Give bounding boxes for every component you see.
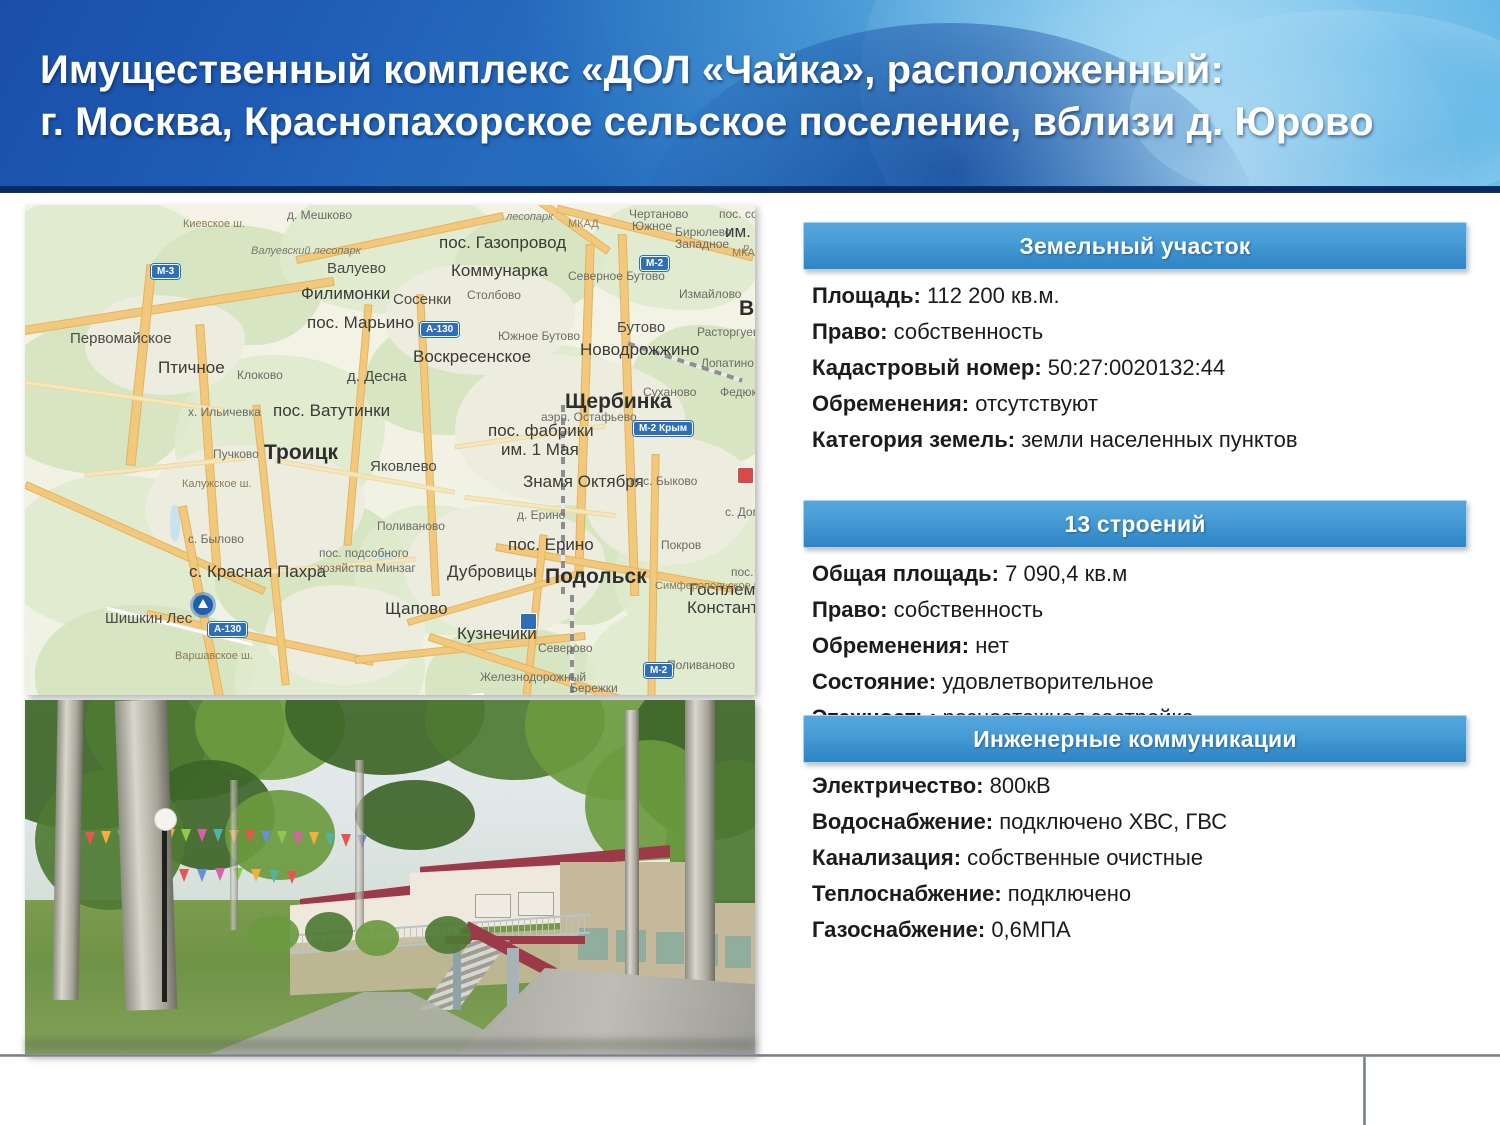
map-label: Первомайское <box>70 330 172 347</box>
panel-row-value: подключено ХВС, ГВС <box>993 809 1227 834</box>
panel-row-value: собственность <box>888 319 1044 344</box>
map-label: с. Красная Пахра <box>189 562 326 582</box>
panel-rows-utilities: Электричество: 800кВВодоснабжение: подкл… <box>812 768 1492 948</box>
map-label: пос. Ерино <box>508 535 594 555</box>
map-label: Расторгуево <box>697 325 755 339</box>
panel-header-utilities: Инженерные коммуникации <box>803 715 1467 763</box>
panel-row-label: Водоснабжение: <box>812 809 993 834</box>
map-label: Южное Бутово <box>498 329 580 343</box>
map-road-shield: М-2 <box>644 663 673 678</box>
map-label: пос. Ватутинки <box>273 401 390 421</box>
panel-row-value: 112 200 кв.м. <box>921 283 1060 308</box>
panel-row-value: собственные очистные <box>961 845 1203 870</box>
map-label: Северово <box>538 641 593 655</box>
map-image[interactable]: д. МешковоВалуевский лесопаркВалуевоФили… <box>25 205 755 695</box>
map-label: Суханово <box>643 385 696 399</box>
footer-horizontal-rule <box>0 1054 1500 1057</box>
map-label: Вид <box>739 297 755 321</box>
panel-row: Водоснабжение: подключено ХВС, ГВС <box>812 804 1492 840</box>
map-label: пос. <box>731 565 754 579</box>
location-marker[interactable] <box>193 595 213 615</box>
panel-row: Общая площадь: 7 090,4 кв.м <box>812 556 1492 592</box>
panel-row-label: Обременения: <box>812 391 969 416</box>
map-label: Поливаново <box>377 519 445 533</box>
map-label: Филимонки <box>301 284 390 304</box>
map-label: х. Ильичевка <box>188 405 261 419</box>
panel-row-label: Право: <box>812 319 888 344</box>
panel-row: Обременения: нет <box>812 628 1492 664</box>
map-label: д. Десна <box>347 368 407 385</box>
map-label: Покров <box>661 538 701 552</box>
panel-rows-land-plot: Площадь: 112 200 кв.м.Право: собственнос… <box>812 278 1492 458</box>
panel-row-label: Право: <box>812 597 888 622</box>
map-label: Коммунарка <box>451 261 548 281</box>
slide-header: Имущественный комплекс «ДОЛ «Чайка», рас… <box>0 0 1500 193</box>
panel-row-value: земли населенных пунктов <box>1015 427 1297 452</box>
map-label: Калужское ш. <box>182 478 252 490</box>
page-title: Имущественный комплекс «ДОЛ «Чайка», рас… <box>40 44 1460 148</box>
map-canvas: д. МешковоВалуевский лесопаркВалуевоФили… <box>25 205 755 695</box>
map-label: Валуево <box>327 260 386 277</box>
map-label: Лопатино <box>701 356 754 370</box>
panel-row-label: Газоснабжение: <box>812 917 985 942</box>
map-label: Южное <box>632 219 672 233</box>
map-label: Щапово <box>385 599 448 619</box>
map-label: Варшавское ш. <box>175 650 253 662</box>
map-label: Бутово <box>617 319 665 336</box>
map-label: Троицк <box>264 441 338 465</box>
panel-row: Теплоснабжение: подключено <box>812 876 1492 912</box>
panel-row-value: 800кВ <box>984 773 1051 798</box>
map-label: Шишкин Лес <box>105 610 192 627</box>
panel-row: Состояние: удовлетворительное <box>812 664 1492 700</box>
map-label: Пучково <box>213 447 259 461</box>
panel-row-label: Кадастровый номер: <box>812 355 1042 380</box>
map-road-shield: А-130 <box>420 322 459 337</box>
panel-row-value: собственность <box>888 597 1044 622</box>
map-label: Знамя Октября <box>523 472 644 492</box>
panel-title: Земельный участок <box>1019 233 1250 260</box>
panel-header-buildings: 13 строений <box>803 500 1467 548</box>
panel-row-value: 0,6МПА <box>985 917 1071 942</box>
panel-row-label: Общая площадь: <box>812 561 999 586</box>
panel-row: Электричество: 800кВ <box>812 768 1492 804</box>
map-label: Дубровицы <box>447 562 537 582</box>
panel-row-value: отсутствуют <box>969 391 1098 416</box>
panel-row-value: подключено <box>1002 881 1131 906</box>
map-label: д. Ерино <box>517 508 565 522</box>
panel-row: Газоснабжение: 0,6МПА <box>812 912 1492 948</box>
header-underline <box>0 186 1500 193</box>
map-label: Новодрожжино <box>580 340 699 360</box>
map-label: Поливаново <box>667 658 735 672</box>
map-label: пос. подсобного <box>319 546 409 560</box>
map-label: с. Домоде <box>725 505 755 519</box>
map-label: Северное Бутово <box>568 269 665 283</box>
panel-title: 13 строений <box>1064 511 1205 538</box>
panel-row-label: Электричество: <box>812 773 984 798</box>
map-label: Яковлево <box>370 458 437 475</box>
panel-row-label: Категория земель: <box>812 427 1015 452</box>
map-label: Бережки <box>570 681 618 695</box>
panel-row: Право: собственность <box>812 592 1492 628</box>
airport-poi-icon <box>520 613 537 630</box>
panel-row: Канализация: собственные очистные <box>812 840 1492 876</box>
map-label: аэрп. Остафьево <box>541 410 637 424</box>
map-label: Подольск <box>545 565 647 589</box>
map-label: хозяйства Минзаг <box>317 561 416 575</box>
panel-rows-buildings: Общая площадь: 7 090,4 кв.мПраво: собств… <box>812 556 1492 736</box>
camp-building-photo[interactable] <box>25 700 755 1055</box>
panel-row: Кадастровый номер: 50:27:0020132:44 <box>812 350 1492 386</box>
map-label: пос. фабрики <box>488 421 594 441</box>
map-label: пос. совх. <box>719 207 755 221</box>
parking-poi-icon <box>737 467 754 484</box>
panel-row-label: Площадь: <box>812 283 921 308</box>
lamp-post <box>162 822 167 1002</box>
panel-row: Площадь: 112 200 кв.м. <box>812 278 1492 314</box>
map-label: Клоково <box>237 368 283 382</box>
map-label: с. Былово <box>188 532 244 546</box>
panel-row-value: 7 090,4 кв.м <box>999 561 1127 586</box>
map-label: Федюково <box>720 385 755 399</box>
map-label: Птичное <box>158 358 225 378</box>
map-label: пос. Марьино <box>307 313 414 333</box>
map-label: Западное <box>675 237 729 251</box>
map-label: МКАД <box>568 218 599 230</box>
map-label: Константинов <box>687 598 755 618</box>
map-label: Сосенки <box>393 291 451 308</box>
panel-row: Право: собственность <box>812 314 1492 350</box>
panel-row: Обременения: отсутствуют <box>812 386 1492 422</box>
panel-row: Категория земель: земли населенных пункт… <box>812 422 1492 458</box>
panel-row-value: удовлетворительное <box>936 669 1154 694</box>
panel-row-label: Теплоснабжение: <box>812 881 1002 906</box>
panel-row-value: 50:27:0020132:44 <box>1042 355 1226 380</box>
map-label: лесопарк <box>506 211 553 223</box>
map-label: Киевское ш. <box>183 218 245 230</box>
panel-title: Инженерные коммуникации <box>973 726 1297 753</box>
map-label: р. Сосенка <box>743 242 755 254</box>
map-road-shield: М-3 <box>151 264 180 279</box>
map-label: Симферопольское ш. <box>655 580 755 592</box>
map-label: пос. Быково <box>630 474 697 488</box>
map-label: пос. Газопровод <box>439 233 566 253</box>
map-label: Измайлово <box>679 287 741 301</box>
map-road-shield: М-2 <box>640 256 669 271</box>
map-label: д. Мешково <box>287 208 352 222</box>
map-road-shield: А-130 <box>208 622 247 637</box>
map-label: им. 1 Мая <box>501 440 579 460</box>
panel-row-label: Канализация: <box>812 845 961 870</box>
lamp-head <box>154 808 177 831</box>
map-label: Воскресенское <box>413 347 531 367</box>
panel-row-label: Обременения: <box>812 633 969 658</box>
map-label: Валуевский лесопарк <box>251 245 361 257</box>
panel-row-value: нет <box>969 633 1009 658</box>
map-label: им. Лен <box>725 222 755 242</box>
footer-vertical-rule <box>1363 1057 1366 1125</box>
panel-row-label: Состояние: <box>812 669 936 694</box>
map-road-shield: М-2 Крым <box>633 421 693 436</box>
panel-header-land-plot: Земельный участок <box>803 222 1467 270</box>
map-label: Столбово <box>467 288 521 302</box>
